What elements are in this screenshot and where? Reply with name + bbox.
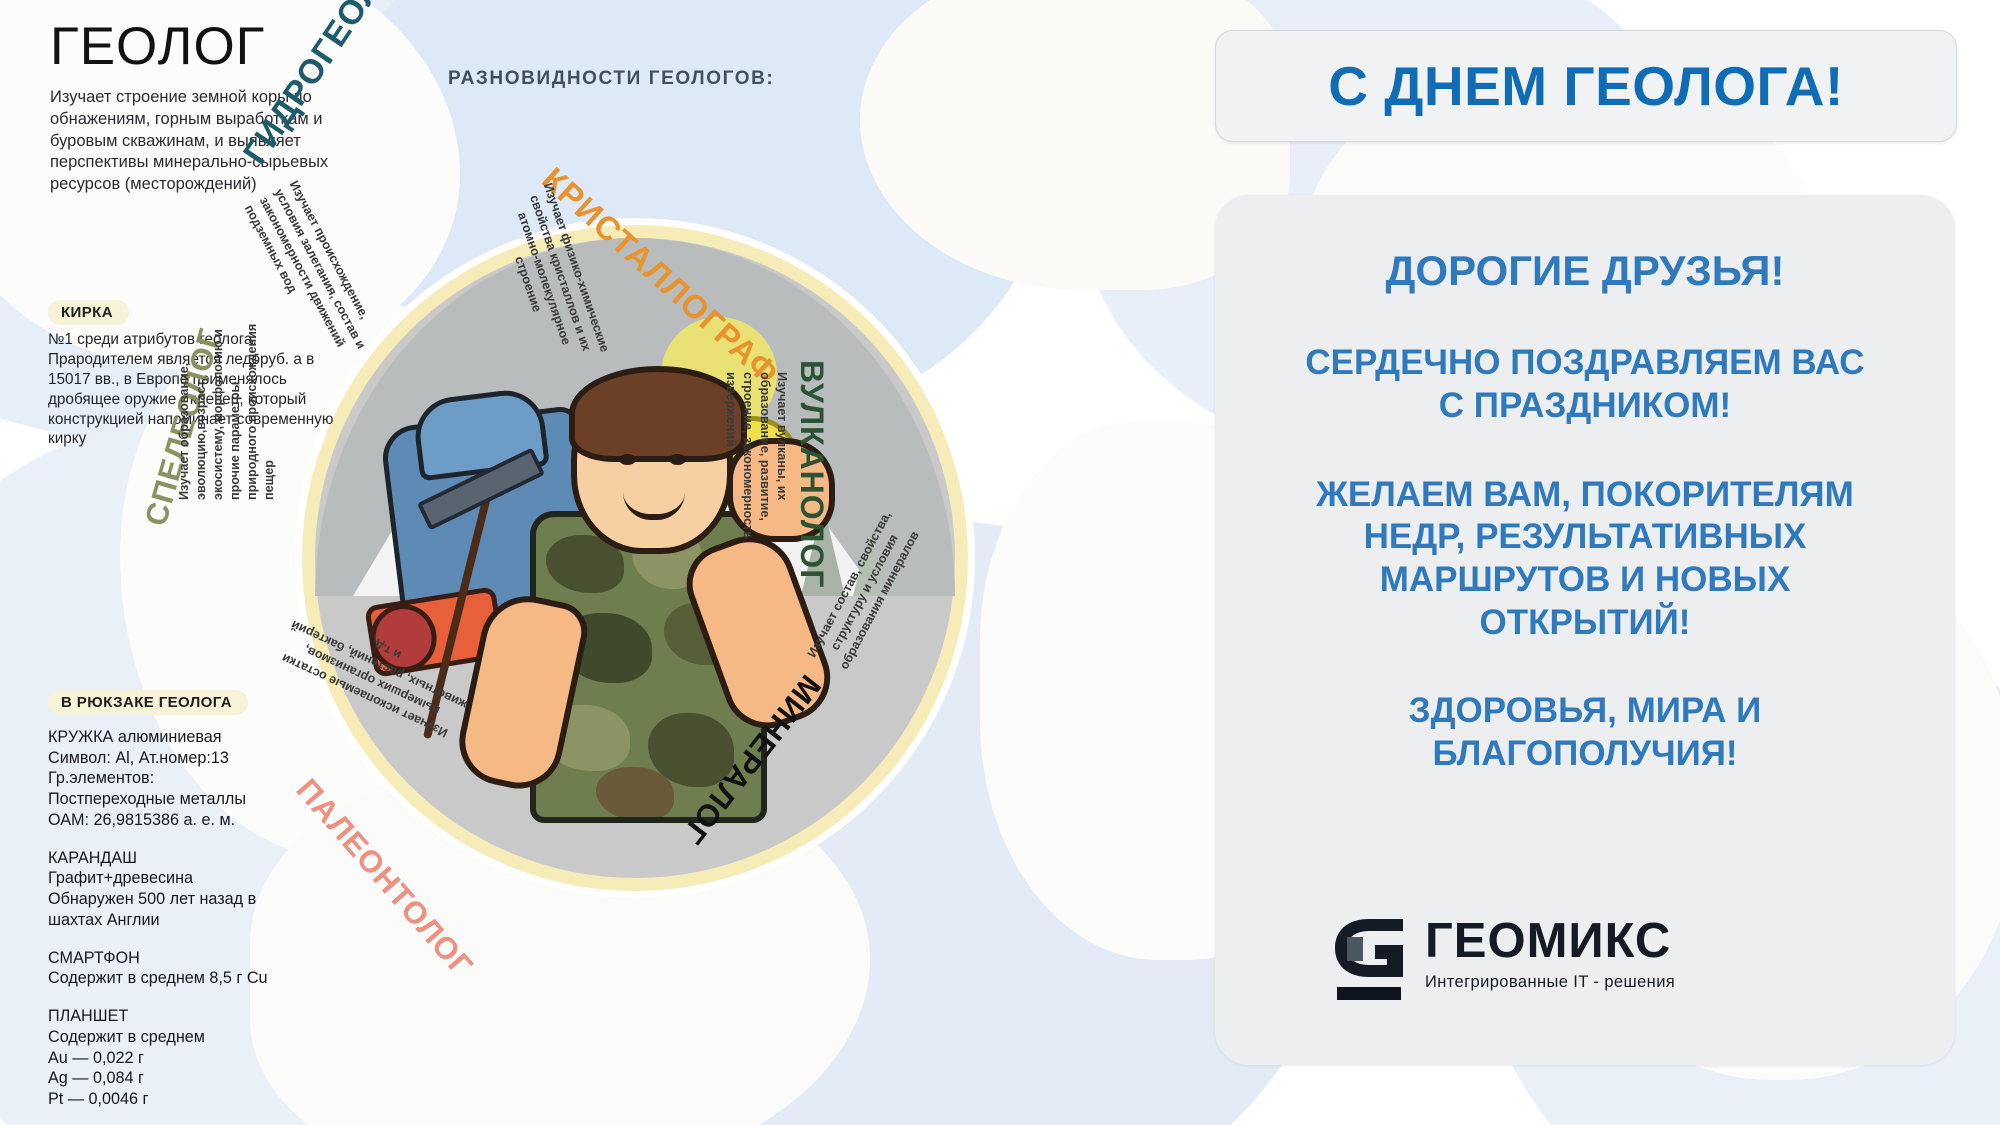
greeting-title: С ДНЕМ ГЕОЛОГА! xyxy=(1328,54,1844,118)
backpack-item-line: Содержит в среднем 8,5 г Cu xyxy=(48,968,368,989)
backpack-item: КАРАНДАШГрафит+древесинаОбнаружен 500 ле… xyxy=(48,848,368,931)
poster-canvas: ГЕОЛОГ Изучает строение земной коры по о… xyxy=(0,0,2000,1125)
greeting-line: ЖЕЛАЕМ ВАМ, ПОКОРИТЕЛЯМ НЕДР, РЕЗУЛЬТАТИ… xyxy=(1215,474,1955,645)
backpack-item: СМАРТФОНСодержит в среднем 8,5 г Cu xyxy=(48,948,368,989)
backpack-heading: В РЮКЗАКЕ ГЕОЛОГА xyxy=(48,690,248,715)
specialty-name: ВУЛКАНОЛОГ xyxy=(793,360,830,588)
varieties-heading: РАЗНОВИДНОСТИ ГЕОЛОГОВ: xyxy=(448,68,774,90)
backpack-item: ПЛАНШЕТСодержит в среднемAu — 0,022 гAg … xyxy=(48,1006,368,1110)
specialty-speleologist-desc: Изучает образование, эволюцию,возраст, э… xyxy=(176,320,278,500)
geomix-logo-mark xyxy=(1333,917,1405,1003)
specialty-description: Изучает образование, эволюцию,возраст, э… xyxy=(176,320,278,500)
geomix-logo-text: ГЕОМИКС Интегрированные IT - решения xyxy=(1425,917,1675,992)
backpack-item-line: шахтах Англии xyxy=(48,910,368,931)
mouth-shape xyxy=(623,492,685,520)
greeting-title-card: С ДНЕМ ГЕОЛОГА! xyxy=(1215,30,1957,142)
logo-underline xyxy=(1337,987,1401,1000)
backpack-item-line: Обнаружен 500 лет назад в xyxy=(48,889,368,910)
geomix-name: ГЕОМИКС xyxy=(1425,917,1675,965)
backpack-item-line: Au — 0,022 г xyxy=(48,1048,368,1069)
backpack-item-line: Символ: Al, Ат.номер:13 xyxy=(48,748,368,769)
backpack-item-name: КАРАНДАШ xyxy=(48,848,368,869)
greeting-line: СЕРДЕЧНО ПОЗДРАВЛЯЕМ ВАС С ПРАЗДНИКОМ! xyxy=(1215,342,1955,427)
backpack-item-line: Графит+древесина xyxy=(48,868,368,889)
head-shape xyxy=(571,374,733,554)
greeting-text-block: ДОРОГИЕ ДРУЗЬЯ! СЕРДЕЧНО ПОЗДРАВЛЯЕМ ВАС… xyxy=(1215,245,1955,822)
greeting-line: ДОРОГИЕ ДРУЗЬЯ! xyxy=(1215,245,1955,296)
greeting-line: ЗДОРОВЬЯ, МИРА И БЛАГОПОЛУЧИЯ! xyxy=(1215,690,1955,775)
greeting-body-card: ДОРОГИЕ ДРУЗЬЯ! СЕРДЕЧНО ПОЗДРАВЛЯЕМ ВАС… xyxy=(1215,195,1955,1065)
backpack-item-line: Содержит в среднем xyxy=(48,1027,368,1048)
specialty-volcanologist: ВУЛКАНОЛОГ xyxy=(793,360,830,588)
specialty-description: Изучает вулканы, их образование, развити… xyxy=(722,372,790,572)
hair-shape xyxy=(569,366,747,462)
geomix-logo: ГЕОМИКС Интегрированные IT - решения xyxy=(1333,917,1675,1003)
backpack-item-name: СМАРТФОН xyxy=(48,948,368,969)
geomix-tagline: Интегрированные IT - решения xyxy=(1425,973,1675,992)
backpack-item-name: ПЛАНШЕТ xyxy=(48,1006,368,1027)
greeting-panel: С ДНЕМ ГЕОЛОГА! ДОРОГИЕ ДРУЗЬЯ! СЕРДЕЧНО… xyxy=(1205,0,1980,1125)
specialty-volcanologist-desc: Изучает вулканы, их образование, развити… xyxy=(722,372,790,572)
backpack-block: В РЮКЗАКЕ ГЕОЛОГА КРУЖКА алюминиеваяСимв… xyxy=(48,690,368,1125)
backpack-item-name: КРУЖКА алюминиевая xyxy=(48,727,368,748)
logo-g-icon xyxy=(1333,917,1405,979)
backpack-item-line: Pt — 0,0046 г xyxy=(48,1089,368,1110)
kirka-heading: КИРКА xyxy=(48,300,129,325)
backpack-item-line: Ag — 0,084 г xyxy=(48,1068,368,1089)
